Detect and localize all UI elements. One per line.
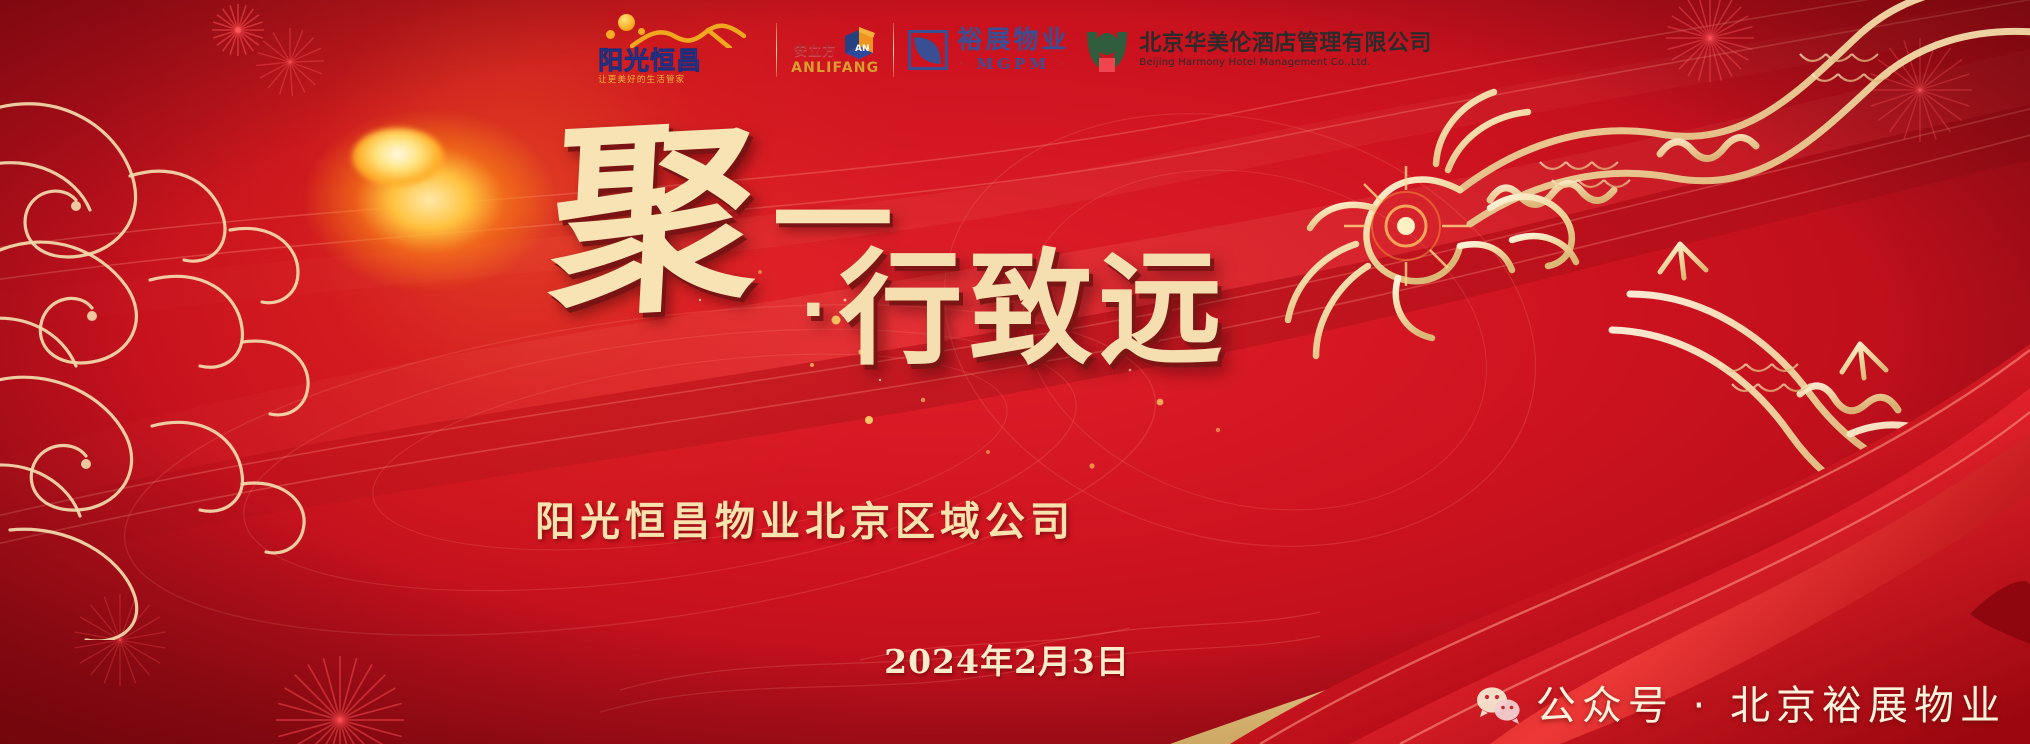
hotel-emblem-icon (1083, 28, 1131, 72)
auspicious-cloud-ornament-left (0, 80, 340, 640)
logo-mgpm-name-en: MGPM (977, 55, 1050, 73)
red-silk-ribbon (930, 284, 2030, 744)
logo-divider (893, 23, 894, 77)
logo-anlifang-name-en: ANLIFANG (791, 60, 879, 76)
logo-divider (776, 23, 777, 77)
wechat-watermark-text: 公众号 · 北京裕展物业 (1536, 684, 2006, 728)
logo-yangguang-hengchang-name: 阳光恒昌 (598, 48, 702, 73)
logo-mgpm[interactable]: 裕展物业 · MGPM · (908, 27, 1069, 73)
logo-anlifang[interactable]: 安立方 AN ANLIFANG (791, 25, 879, 76)
wechat-watermark[interactable]: 公众号 · 北京裕展物业 (1476, 684, 2006, 728)
sponsor-logo-bar: 阳光恒昌 让更美好的生活管家 安立方 AN ANLIFANG (0, 14, 2030, 86)
logo-yangguang-hengchang[interactable]: 阳光恒昌 让更美好的生活管家 (598, 14, 762, 86)
logo-mgpm-name-cn: 裕展物业 (957, 27, 1069, 53)
cube-icon: AN (842, 25, 876, 59)
logo-mgpm-dot-left: · (958, 55, 967, 73)
svg-text:AN: AN (855, 44, 870, 54)
blue-square-swoosh-icon (908, 30, 948, 70)
warm-glow-core (352, 128, 444, 186)
wechat-icon (1476, 686, 1522, 726)
logo-mgpm-name-en-row: · MGPM · (957, 55, 1069, 73)
logo-harmony-hotel-name-en: Beijing Harmony Hotel Management Co.,Ltd… (1139, 57, 1432, 68)
logo-harmony-hotel-name-cn: 北京华美伦酒店管理有限公司 (1139, 32, 1432, 55)
banner-canvas: 阳光恒昌 让更美好的生活管家 安立方 AN ANLIFANG (0, 0, 2030, 744)
logo-anlifang-name-cn: 安立方 (794, 40, 836, 59)
sun-and-roof-icon (598, 14, 746, 48)
logo-yangguang-hengchang-tagline: 让更美好的生活管家 (598, 75, 685, 86)
logo-mgpm-dot-right: · (1059, 55, 1068, 73)
logo-harmony-hotel[interactable]: 北京华美伦酒店管理有限公司 Beijing Harmony Hotel Mana… (1083, 28, 1432, 72)
